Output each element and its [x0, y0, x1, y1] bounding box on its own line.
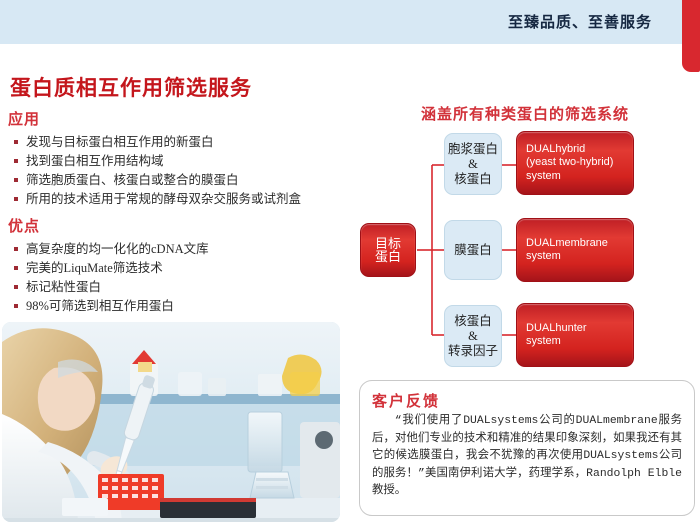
customer-feedback-box: 客户反馈 “我们使用了DUALsystems公司的DUALmembrane服务后… [359, 380, 695, 516]
list-item-label: 高复杂度的均一化化的cDNA文库 [26, 242, 209, 256]
list-item-label: 发现与目标蛋白相互作用的新蛋白 [26, 135, 214, 149]
list-item-label: 筛选胞质蛋白、核蛋白或整合的膜蛋白 [26, 173, 239, 187]
diagram-system-node-3: DUALhuntersystem [516, 303, 634, 367]
advantages-section: 优点 高复杂度的均一化化的cDNA文库 完美的LiquMate筛选技术 标记粘性… [0, 215, 350, 316]
diagram-system-label-2: DUALmembranesystem [526, 237, 608, 264]
square-bullet-icon [14, 159, 18, 163]
list-item-label: 98%可筛选到相互作用蛋白 [26, 299, 174, 313]
diagram-system-label-3: DUALhuntersystem [526, 322, 587, 349]
diagram-category-label-3: 核蛋白&转录因子 [448, 314, 498, 359]
diagram-category-label-2: 膜蛋白 [454, 243, 492, 258]
square-bullet-icon [14, 247, 18, 251]
list-item: 98%可筛选到相互作用蛋白 [14, 297, 350, 316]
diagram-system-label-1: DUALhybrid(yeast two-hybrid)system [526, 143, 613, 184]
laboratory-photo-illustration [2, 322, 340, 522]
list-item: 完美的LiquMate筛选技术 [14, 259, 350, 278]
diagram-root-label: 目标蛋白 [370, 237, 406, 264]
diagram-title: 涵盖所有种类蛋白的筛选系统 [360, 103, 690, 124]
square-bullet-icon [14, 197, 18, 201]
list-item-label: 所用的技术适用于常规的酵母双杂交服务或试剂盒 [26, 192, 301, 206]
corner-accent-tab [682, 0, 700, 72]
diagram-root-node: 目标蛋白 [360, 223, 416, 277]
list-item-label: 标记粘性蛋白 [26, 280, 101, 294]
diagram-category-node-3: 核蛋白&转录因子 [444, 305, 502, 367]
list-item: 找到蛋白相互作用结构域 [14, 152, 350, 171]
diagram-category-node-1: 胞浆蛋白&核蛋白 [444, 133, 502, 195]
square-bullet-icon [14, 304, 18, 308]
advantages-list: 高复杂度的均一化化的cDNA文库 完美的LiquMate筛选技术 标记粘性蛋白 … [0, 240, 350, 316]
square-bullet-icon [14, 285, 18, 289]
laboratory-photo [2, 322, 340, 522]
square-bullet-icon [14, 140, 18, 144]
diagram-category-label-1: 胞浆蛋白&核蛋白 [448, 142, 498, 187]
customer-feedback-quote: “我们使用了DUALsystems公司的DUALmembrane服务后，对他们专… [372, 413, 682, 501]
applications-section: 应用 发现与目标蛋白相互作用的新蛋白 找到蛋白相互作用结构域 筛选胞质蛋白、核蛋… [0, 108, 350, 209]
list-item: 发现与目标蛋白相互作用的新蛋白 [14, 133, 350, 152]
screening-systems-diagram: 目标蛋白 胞浆蛋白&核蛋白 DUALhybrid(yeast two-hybri… [360, 125, 696, 375]
list-item: 高复杂度的均一化化的cDNA文库 [14, 240, 350, 259]
list-item: 标记粘性蛋白 [14, 278, 350, 297]
list-item-label: 找到蛋白相互作用结构域 [26, 154, 164, 168]
page-title: 蛋白质相互作用筛选服务 [10, 72, 252, 102]
list-item-label: 完美的LiquMate筛选技术 [26, 261, 163, 275]
applications-heading: 应用 [8, 108, 350, 129]
list-item: 筛选胞质蛋白、核蛋白或整合的膜蛋白 [14, 171, 350, 190]
customer-feedback-title: 客户反馈 [372, 390, 682, 411]
diagram-category-node-2: 膜蛋白 [444, 220, 502, 280]
diagram-system-node-1: DUALhybrid(yeast two-hybrid)system [516, 131, 634, 195]
square-bullet-icon [14, 178, 18, 182]
diagram-system-node-2: DUALmembranesystem [516, 218, 634, 282]
applications-list: 发现与目标蛋白相互作用的新蛋白 找到蛋白相互作用结构域 筛选胞质蛋白、核蛋白或整… [0, 133, 350, 209]
square-bullet-icon [14, 266, 18, 270]
advantages-heading: 优点 [8, 215, 350, 236]
list-item: 所用的技术适用于常规的酵母双杂交服务或试剂盒 [14, 190, 350, 209]
header-slogan: 至臻品质、至善服务 [508, 11, 652, 32]
